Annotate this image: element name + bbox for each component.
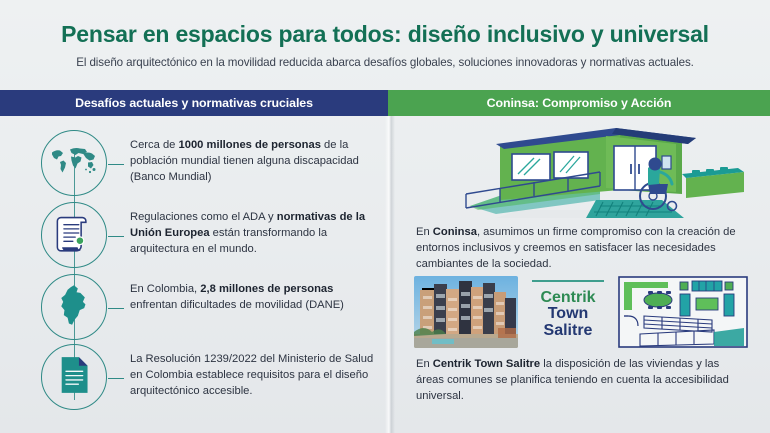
left-column-header-bar: Desafíos actuales y normativas cruciales bbox=[0, 90, 388, 116]
accessible-floor-plan-diagram bbox=[618, 276, 752, 348]
list-item: La Resolución 1239/2022 del Ministerio d… bbox=[0, 344, 385, 410]
logo-line-centrik: Centrik bbox=[540, 290, 595, 306]
coninsa-commitment-paragraph: En Coninsa, asumimos un firme compromiso… bbox=[416, 224, 742, 273]
scroll-document-icon bbox=[56, 214, 92, 257]
list-item-text: La Resolución 1239/2022 del Ministerio d… bbox=[130, 352, 380, 400]
item-connector-line bbox=[108, 308, 124, 309]
infographic-page: Pensar en espacios para todos: diseño in… bbox=[0, 0, 770, 433]
colombia-map-icon bbox=[57, 284, 91, 331]
left-column-header-label: Desafíos actuales y normativas cruciales bbox=[75, 96, 313, 110]
logo-line-town: Town bbox=[548, 306, 589, 322]
list-item-text: En Colombia, 2,8 millones de personas en… bbox=[130, 282, 380, 314]
file-document-icon bbox=[58, 355, 90, 400]
item-connector-line bbox=[108, 164, 124, 165]
icon-circle bbox=[41, 130, 107, 196]
accessible-building-ramp-wheelchair-illustration bbox=[400, 122, 760, 218]
centrik-town-salitre-building-photo bbox=[414, 276, 518, 348]
icon-circle bbox=[41, 274, 107, 340]
list-item: Cerca de 1000 millones de personas de la… bbox=[0, 130, 385, 196]
logo-line-salitre: Salitre bbox=[544, 323, 593, 339]
page-title: Pensar en espacios para todos: diseño in… bbox=[0, 22, 770, 47]
world-map-icon bbox=[49, 145, 99, 182]
item-connector-line bbox=[108, 236, 124, 237]
list-item: En Colombia, 2,8 millones de personas en… bbox=[0, 274, 385, 340]
right-column-header-bar: Coninsa: Compromiso y Acción bbox=[388, 90, 770, 116]
logo-divider-rule bbox=[532, 280, 604, 282]
icon-circle bbox=[41, 344, 107, 410]
item-connector-line bbox=[108, 378, 124, 379]
centrik-accessibility-paragraph: En Centrik Town Salitre la disposición d… bbox=[416, 356, 744, 405]
centrik-town-salitre-logo: Centrik Town Salitre bbox=[524, 276, 612, 348]
left-column: Cerca de 1000 millones de personas de la… bbox=[0, 118, 385, 433]
right-column: En Coninsa, asumimos un firme compromiso… bbox=[392, 118, 770, 433]
column-header-bars: Desafíos actuales y normativas cruciales… bbox=[0, 90, 770, 116]
list-item: Regulaciones como el ADA y normativas de… bbox=[0, 202, 385, 268]
list-item-text: Cerca de 1000 millones de personas de la… bbox=[130, 138, 380, 186]
page-subtitle: El diseño arquitectónico en la movilidad… bbox=[0, 56, 770, 69]
project-media-row: Centrik Town Salitre bbox=[414, 276, 752, 348]
page-header: Pensar en espacios para todos: diseño in… bbox=[0, 0, 770, 88]
list-item-text: Regulaciones como el ADA y normativas de… bbox=[130, 210, 380, 258]
icon-circle bbox=[41, 202, 107, 268]
right-column-header-label: Coninsa: Compromiso y Acción bbox=[487, 96, 672, 110]
